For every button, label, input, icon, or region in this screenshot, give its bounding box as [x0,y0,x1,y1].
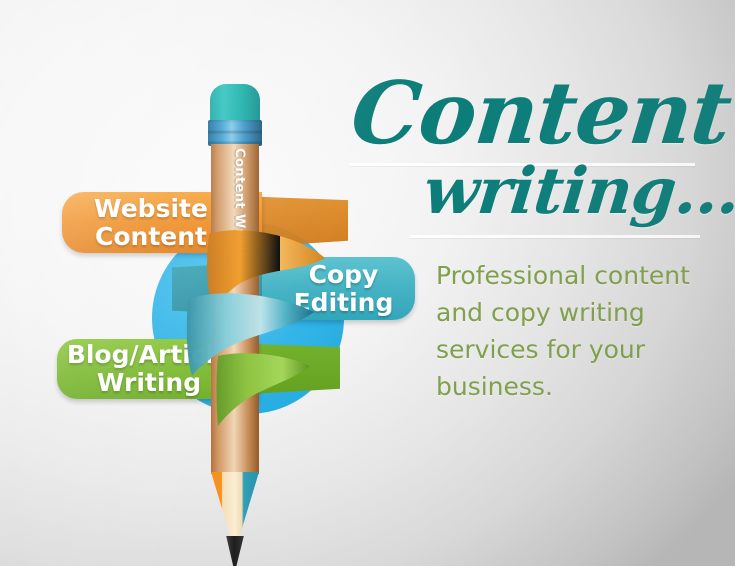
banner-copy-line1: Copy [309,261,379,289]
poster-canvas: Content Writing [0,0,735,566]
pencil-sharpened-cone [211,472,259,542]
pencil-graphic: Content Writing [207,84,263,504]
pencil-barrel: Content Writing [211,144,259,474]
subtext-paragraph: Professional content and copy writing se… [436,257,706,405]
pencil-graphite-tip [224,536,246,566]
pencil-barrel-label: Content Writing [232,130,247,290]
banner-copy-line2: Editing [294,289,394,317]
headline-writing: writing.... [420,155,735,229]
banner-copy-editing[interactable]: Copy Editing [262,257,415,320]
banner-website-line2: Content [95,223,207,251]
headline-rule-bottom [410,235,700,238]
headline-content: Content [347,66,735,162]
banner-website-line1: Website [94,195,208,223]
banner-blog-line2: Writing [97,369,201,397]
